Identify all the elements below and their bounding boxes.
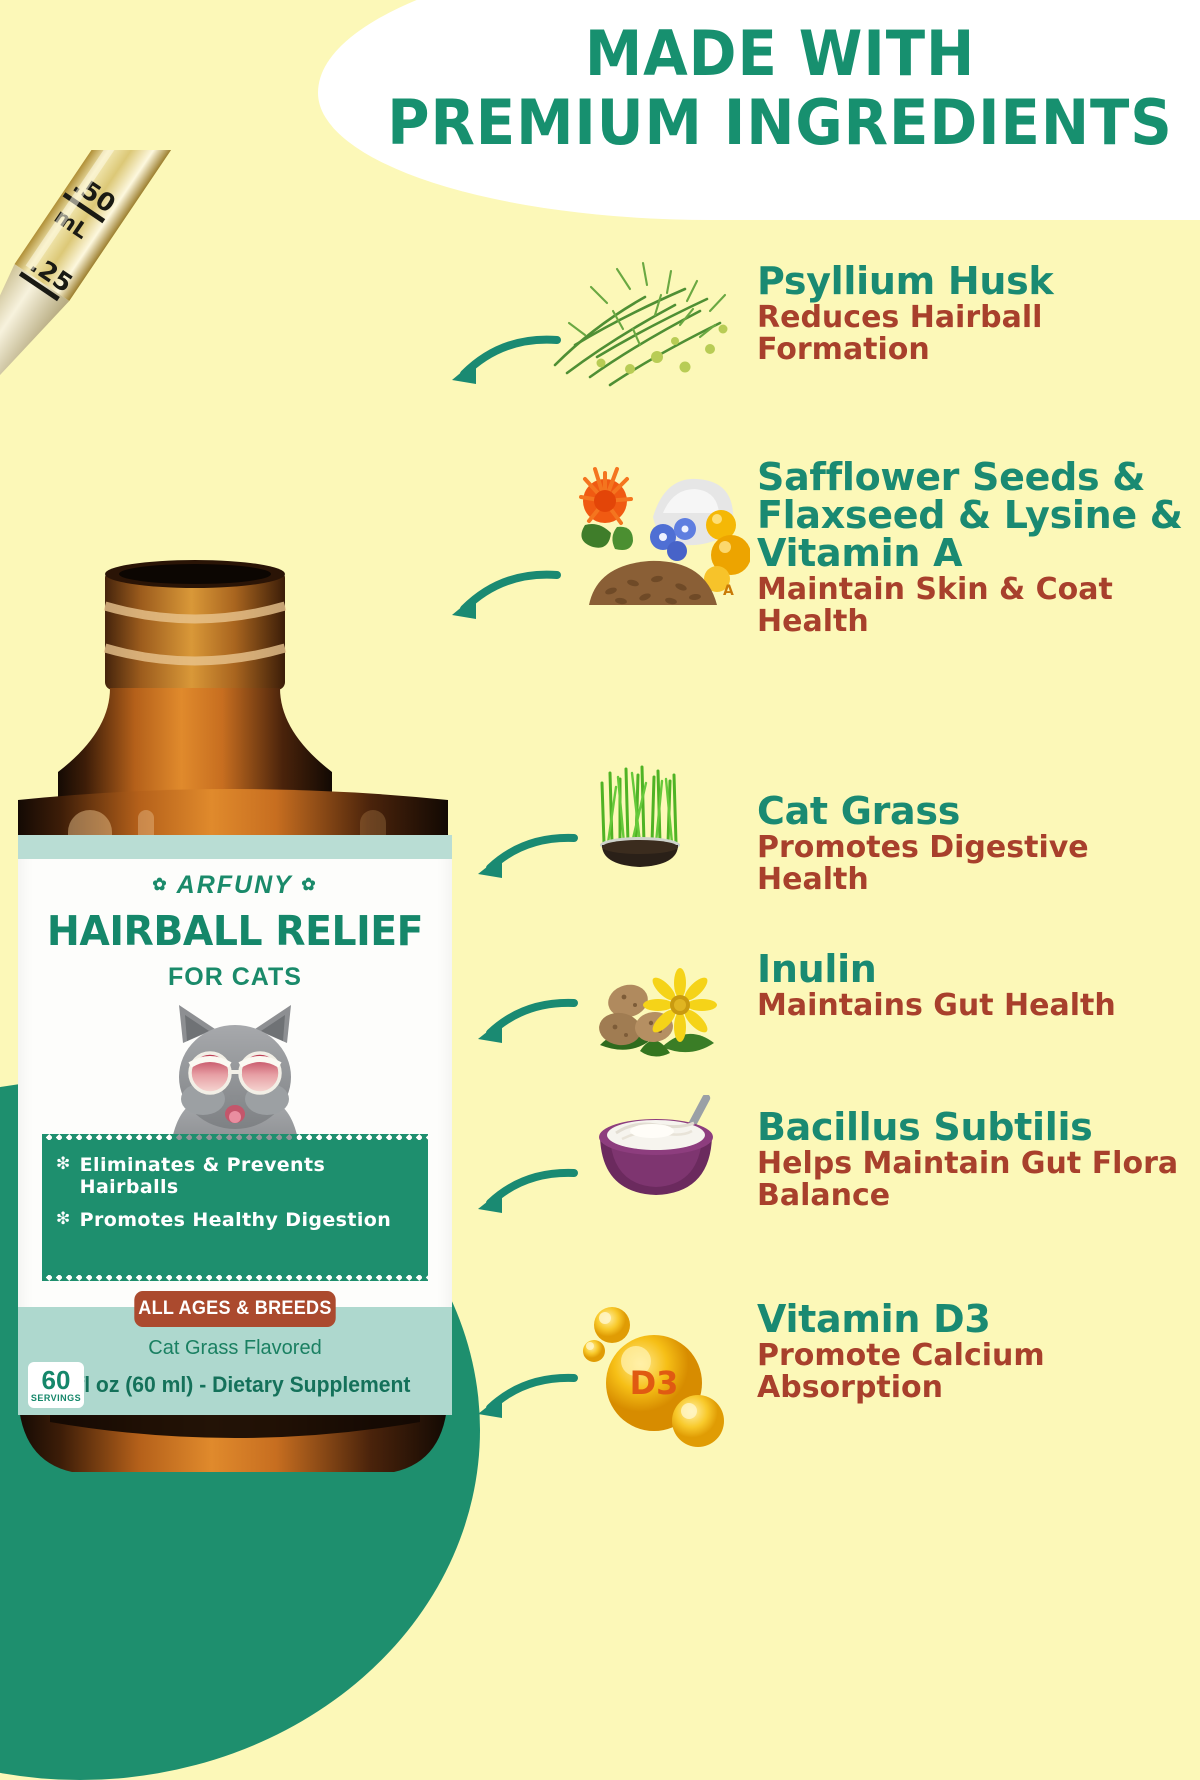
arrow-icon-vitamin-d3 bbox=[470, 1370, 580, 1437]
ingredient-block-bacillus: Bacillus Subtilis Helps Maintain Gut Flo… bbox=[757, 1108, 1197, 1212]
ingredient-name: Vitamin D3 bbox=[757, 1300, 1197, 1338]
header-line-2: PREMIUM INGREDIENTS bbox=[371, 93, 1189, 154]
paw-icon-left: ✿ bbox=[152, 875, 168, 894]
thumb-cat-grass bbox=[588, 765, 693, 875]
benefit-text: Promotes Healthy Digestion bbox=[80, 1209, 391, 1231]
product-title: HAIRBALL RELIEF bbox=[27, 907, 444, 955]
benefit-item: ❇ Promotes Healthy Digestion bbox=[42, 1209, 428, 1231]
product-subtitle: FOR CATS bbox=[18, 963, 452, 992]
paw-icon-right: ✿ bbox=[301, 875, 317, 894]
bottle-label: ✿ ARFUNY ✿ HAIRBALL RELIEF FOR CATS bbox=[18, 835, 452, 1415]
vitamin-a-label: A bbox=[723, 583, 734, 599]
thumb-safflower-flaxseed: A bbox=[545, 455, 750, 615]
benefits-panel: ❇ Eliminates & Prevents Hairballs ❇ Prom… bbox=[42, 1140, 428, 1275]
brand-name: ARFUNY bbox=[177, 871, 293, 899]
d3-label: D3 bbox=[630, 1364, 679, 1402]
servings-badge: 60 SERVINGS bbox=[28, 1362, 84, 1408]
ingredient-name: Safflower Seeds & Flaxseed & Lysine & Vi… bbox=[757, 458, 1197, 572]
dropper-image: .50 mL .25 bbox=[0, 150, 260, 530]
thumb-inulin-tubers bbox=[588, 955, 718, 1065]
arrow-icon-inulin bbox=[470, 995, 580, 1062]
ingredient-description: Promotes Digestive Health bbox=[757, 832, 1197, 896]
page-title: MADE WITH PREMIUM INGREDIENTS bbox=[340, 24, 1200, 154]
ingredient-description: Maintains Gut Health bbox=[757, 990, 1197, 1022]
ingredient-name: Bacillus Subtilis bbox=[757, 1108, 1197, 1146]
all-ages-badge: ALL AGES & BREEDS bbox=[134, 1291, 335, 1327]
header-line-1: MADE WITH bbox=[371, 24, 1189, 85]
ingredient-block-cat-grass: Cat Grass Promotes Digestive Health bbox=[757, 792, 1197, 896]
paw-bullet-icon: ❇ bbox=[56, 1154, 71, 1175]
ingredient-block-vitamin-d3: Vitamin D3 Promote Calcium Absorption bbox=[757, 1300, 1197, 1404]
benefit-text: Eliminates & Prevents Hairballs bbox=[80, 1154, 414, 1199]
servings-number: 60 bbox=[42, 1367, 71, 1393]
ingredient-block-safflower: Safflower Seeds & Flaxseed & Lysine & Vi… bbox=[757, 458, 1197, 638]
ingredient-name: Cat Grass bbox=[757, 792, 1197, 830]
thumb-vitamin-d3: D3 bbox=[578, 1295, 728, 1460]
thumb-psyllium-husk bbox=[535, 245, 750, 395]
brand-row: ✿ ARFUNY ✿ bbox=[18, 871, 452, 900]
ingredient-description: Helps Maintain Gut Flora Balance bbox=[757, 1148, 1197, 1212]
flavor-text: Cat Grass Flavored bbox=[18, 1337, 452, 1360]
ingredient-description: Promote Calcium Absorption bbox=[757, 1340, 1197, 1404]
ingredient-name: Inulin bbox=[757, 950, 1197, 988]
arrow-icon-bacillus bbox=[470, 1165, 580, 1232]
thumb-yogurt-bowl bbox=[590, 1095, 725, 1210]
paw-bullet-icon: ❇ bbox=[56, 1209, 71, 1230]
ingredient-block-inulin: Inulin Maintains Gut Health bbox=[757, 950, 1197, 1022]
servings-word: SERVINGS bbox=[31, 1394, 81, 1403]
label-top-band bbox=[18, 835, 452, 859]
ingredient-block-psyllium: Psyllium Husk Reduces Hairball Formation bbox=[757, 262, 1197, 366]
benefit-item: ❇ Eliminates & Prevents Hairballs bbox=[42, 1154, 428, 1199]
ingredient-description: Reduces Hairball Formation bbox=[757, 302, 1197, 366]
volume-text: 2 fl oz (60 ml) - Dietary Supplement bbox=[27, 1372, 444, 1398]
ingredient-description: Maintain Skin & Coat Health bbox=[757, 574, 1197, 638]
arrow-icon-cat-grass bbox=[470, 830, 580, 897]
ingredient-name: Psyllium Husk bbox=[757, 262, 1197, 300]
